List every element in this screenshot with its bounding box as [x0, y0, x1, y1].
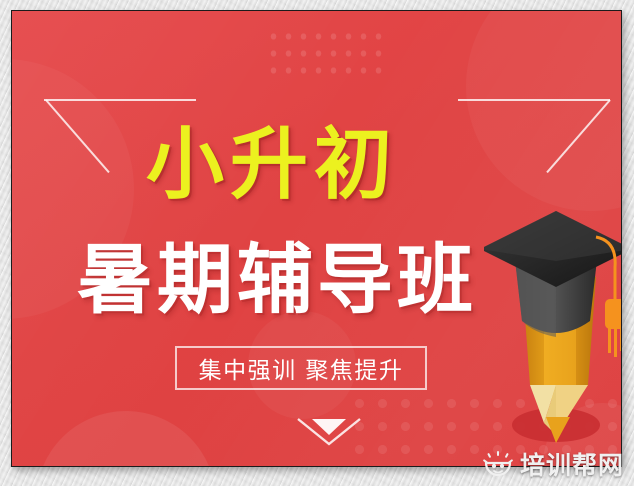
- poster-title-main: 小升初: [12, 123, 532, 207]
- poster-canvas: 小升初 暑期辅导班 集中强训 聚焦提升: [12, 11, 621, 466]
- decorative-circle-bottom-left: [36, 411, 216, 466]
- tagline-box: 集中强训 聚焦提升: [175, 346, 427, 390]
- poster-title-sub: 暑期辅导班: [12, 239, 542, 321]
- page-backdrop: 小升初 暑期辅导班 集中强训 聚焦提升: [0, 0, 634, 486]
- bracket-left-horizontal: [44, 99, 196, 101]
- watermark: 培训帮网: [475, 443, 630, 485]
- chevron-down-icon: [294, 415, 364, 449]
- dot-grid-top-right-icon: [264, 25, 382, 75]
- watermark-text: 培训帮网: [520, 446, 624, 482]
- tagline-text: 集中强训 聚焦提升: [199, 351, 404, 385]
- smiling-sun-icon: [483, 451, 513, 477]
- pencil-with-graduation-cap-icon: [484, 203, 621, 451]
- poster-frame: 小升初 暑期辅导班 集中强训 聚焦提升: [11, 10, 622, 467]
- bracket-right-diagonal: [546, 99, 610, 173]
- bracket-right-horizontal: [458, 99, 610, 101]
